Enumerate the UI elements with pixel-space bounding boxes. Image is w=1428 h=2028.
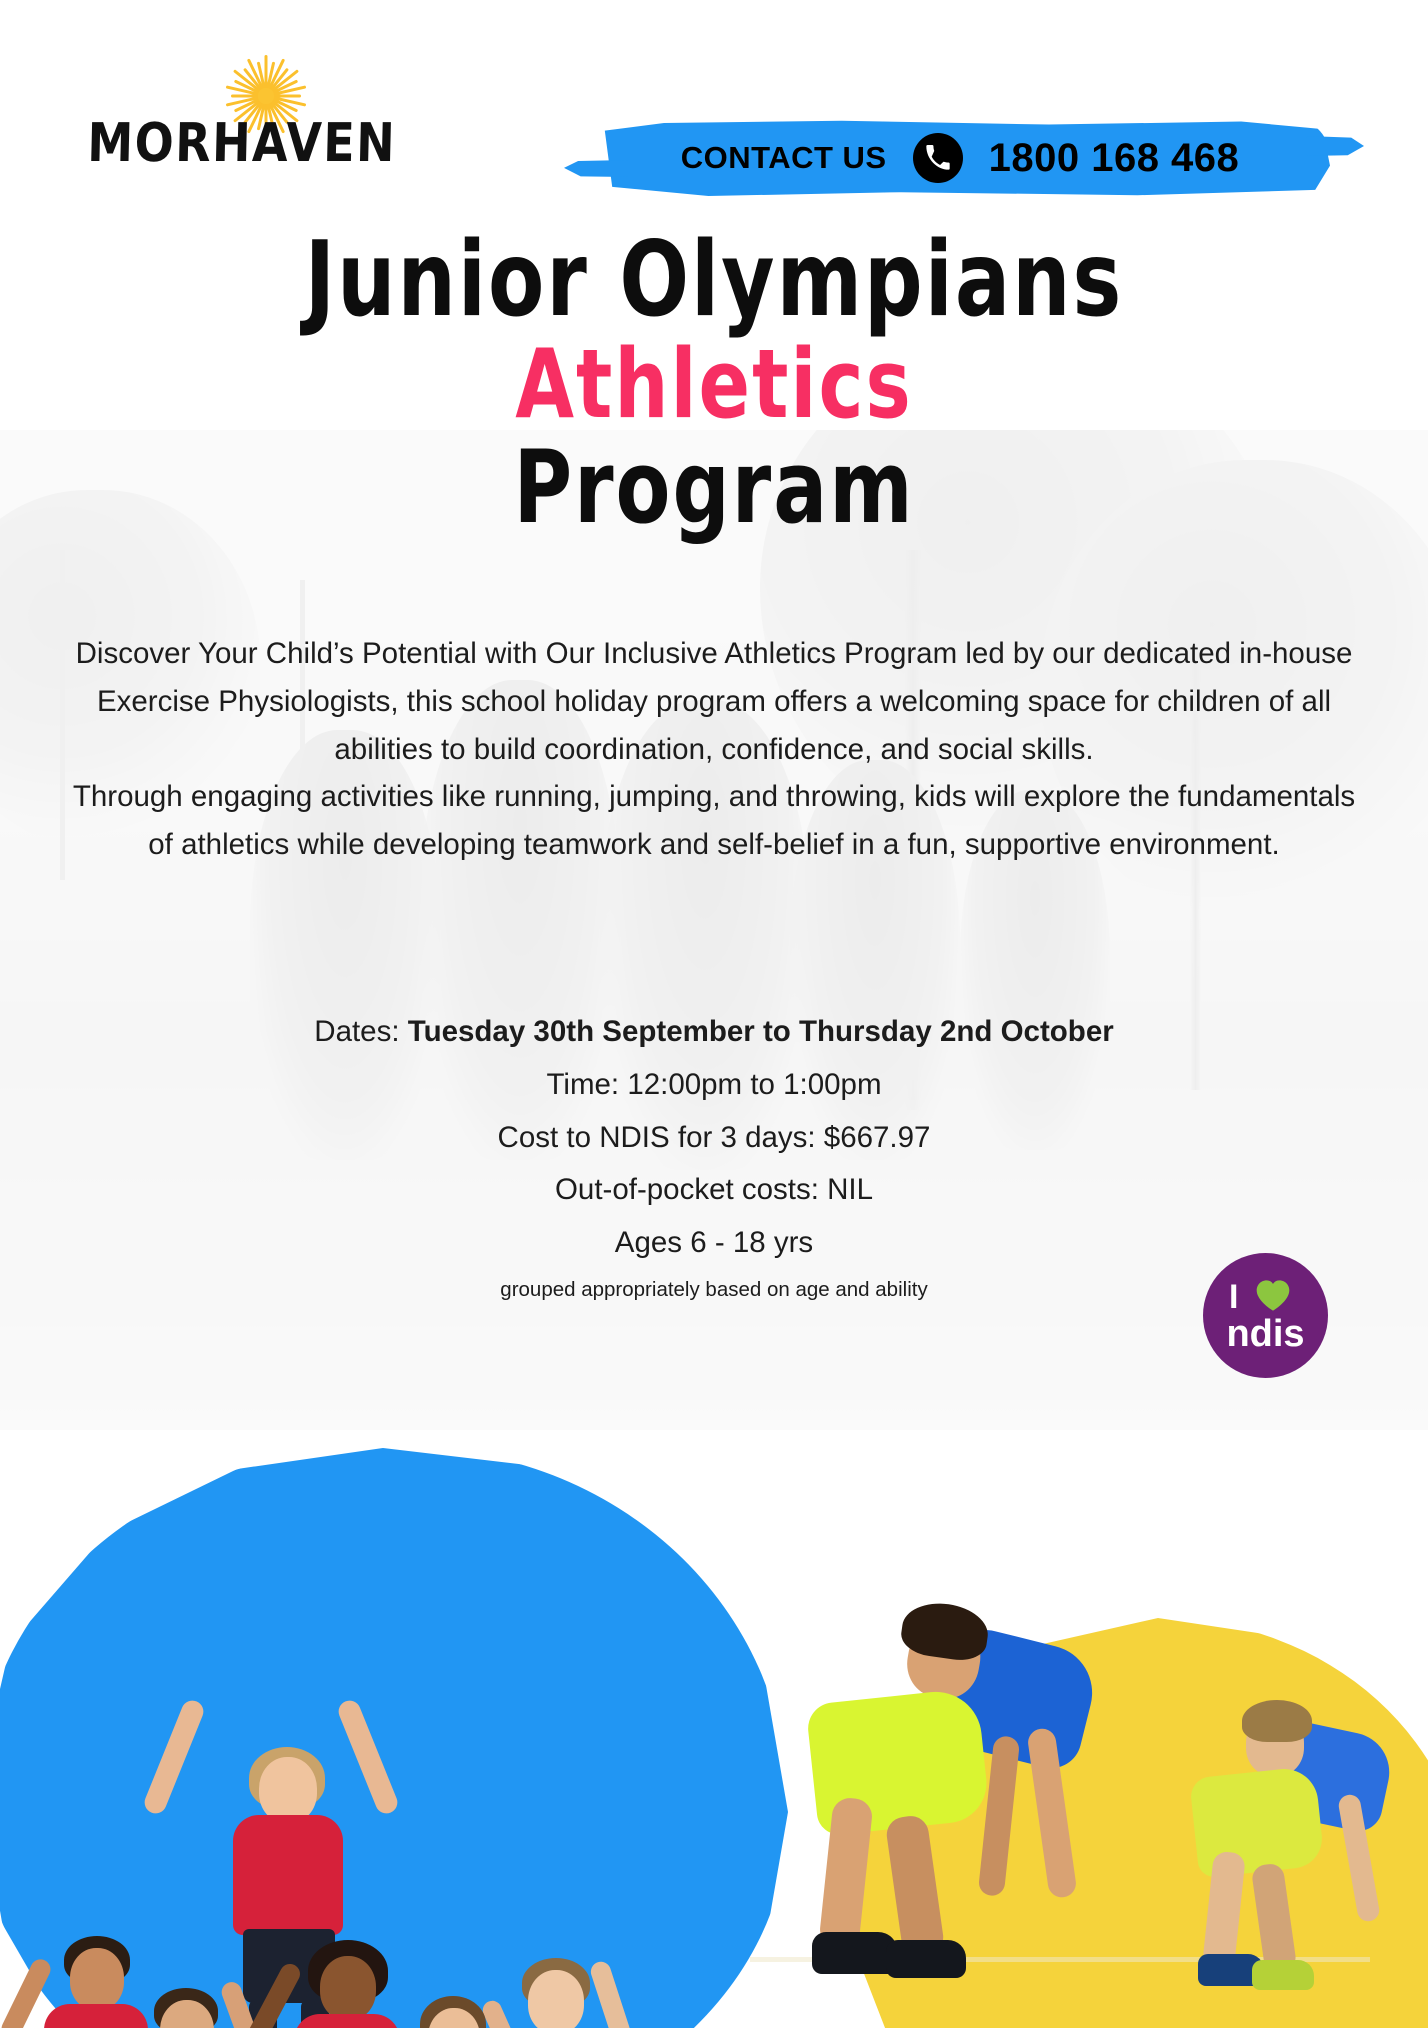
brand-logo: MORHAVEN — [88, 60, 358, 172]
poster-title: Junior Olympians Athletics Program — [0, 240, 1428, 528]
brand-name: MORHAVEN — [87, 116, 358, 169]
runner-leg-front — [884, 1814, 945, 1958]
heart-icon — [1255, 1279, 1291, 1312]
contact-banner[interactable]: CONTACT US 1800 168 468 — [590, 120, 1330, 196]
detail-dates: Dates: Tuesday 30th September to Thursda… — [60, 1010, 1368, 1055]
title-line-3: Program — [0, 438, 1428, 539]
runner2-hair — [1242, 1700, 1312, 1742]
detail-note: grouped appropriately based on age and a… — [60, 1274, 1368, 1305]
detail-out-of-pocket: Out-of-pocket costs: NIL — [60, 1168, 1368, 1213]
dates-value: Tuesday 30th September to Thursday 2nd O… — [408, 1015, 1114, 1048]
detail-ages: Ages 6 - 18 yrs — [60, 1221, 1368, 1266]
runner2-shorts — [1189, 1766, 1325, 1879]
runner-neon-yellow — [790, 1568, 1210, 1988]
contact-label: CONTACT US — [681, 140, 887, 176]
body-paragraph-2: Through engaging activities like running… — [60, 773, 1368, 869]
dates-label: Dates: — [314, 1015, 407, 1048]
ndis-badge: I ndis — [1203, 1253, 1328, 1378]
collage-fade — [0, 1988, 1428, 2028]
ndis-i-letter: I — [1229, 1280, 1238, 1314]
body-copy: Discover Your Child’s Potential with Our… — [60, 630, 1368, 869]
program-details: Dates: Tuesday 30th September to Thursda… — [60, 1010, 1368, 1305]
runner-shoe-front — [886, 1940, 966, 1978]
bottom-photo-collage — [0, 1408, 1428, 2028]
kids-team-photo — [10, 1428, 770, 2028]
title-line-1: Junior Olympians — [0, 229, 1428, 332]
detail-time: Time: 12:00pm to 1:00pm — [60, 1063, 1368, 1108]
ndis-word: ndis — [1203, 1315, 1328, 1353]
contact-phone-number[interactable]: 1800 168 468 — [989, 136, 1240, 181]
detail-cost: Cost to NDIS for 3 days: $667.97 — [60, 1116, 1368, 1161]
runner-second — [1180, 1668, 1428, 1998]
body-paragraph-1: Discover Your Child’s Potential with Our… — [60, 630, 1368, 773]
title-line-2: Athletics — [0, 336, 1428, 432]
phone-icon — [913, 133, 963, 183]
runner2-shoe-2 — [1252, 1960, 1314, 1990]
